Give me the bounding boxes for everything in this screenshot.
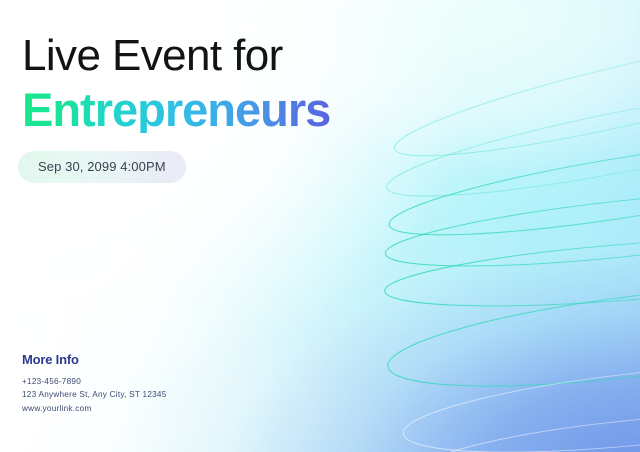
- ring-group-main: [382, 118, 640, 407]
- more-info-block: More Info +123-456-7890 123 Anywhere St,…: [22, 352, 167, 415]
- poster-headline: Live Event for Entrepreneurs: [22, 34, 330, 133]
- event-poster: Live Event for Entrepreneurs Sep 30, 209…: [0, 0, 640, 452]
- ring-group-faint-top: [381, 6, 640, 217]
- more-info-website: www.yourlink.com: [22, 402, 167, 415]
- more-info-phone: +123-456-7890: [22, 375, 167, 388]
- event-date-badge: Sep 30, 2099 4:00PM: [18, 151, 186, 183]
- more-info-address: 123 Anywhere St, Any City, ST 12345: [22, 388, 167, 401]
- headline-line-2-gradient: Entrepreneurs: [22, 86, 330, 133]
- more-info-title: More Info: [22, 352, 167, 367]
- headline-line-1: Live Event for: [22, 34, 330, 78]
- ring-group-pale-bottom: [400, 346, 640, 452]
